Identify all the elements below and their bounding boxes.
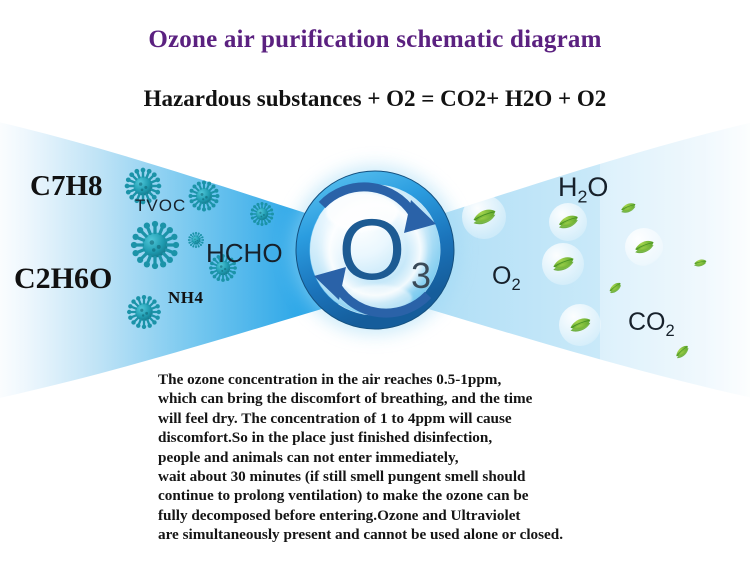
product-label-o2-subscript: 2 (511, 276, 520, 294)
product-label-o2-main: O (492, 262, 511, 290)
product-label-h2o-tail: O (587, 172, 608, 202)
pollutant-label-hcho: HCHO (206, 238, 283, 269)
product-label-h2o-subscript: 2 (578, 186, 588, 206)
reaction-equation: Hazardous substances + O2 = CO2+ H2O + O… (0, 86, 750, 112)
ozone-symbol: O (339, 202, 406, 298)
page-title: Ozone air purification schematic diagram (0, 26, 750, 54)
ozone-sphere: O 3 (291, 166, 459, 334)
pollutant-label-c2h6o: C2H6O (14, 262, 112, 296)
product-label-h2o-main: H (558, 172, 578, 202)
ozone-subscript: 3 (411, 255, 431, 296)
schematic-diagram-canvas: O 3 Ozone air purification schematic dia… (0, 0, 750, 568)
product-label-co2: CO2 (628, 308, 675, 341)
description-paragraph: The ozone concentration in the air reach… (158, 370, 718, 545)
product-label-co2-main: CO (628, 308, 666, 336)
product-label-h2o: H2O (558, 172, 608, 207)
pollutant-label-tvoc: TVOC (135, 196, 186, 216)
pollutant-label-nh4: NH4 (168, 288, 204, 308)
product-label-o2: O2 (492, 262, 521, 295)
pollutant-label-c7h8: C7H8 (30, 170, 103, 203)
product-label-co2-subscript: 2 (666, 322, 675, 340)
